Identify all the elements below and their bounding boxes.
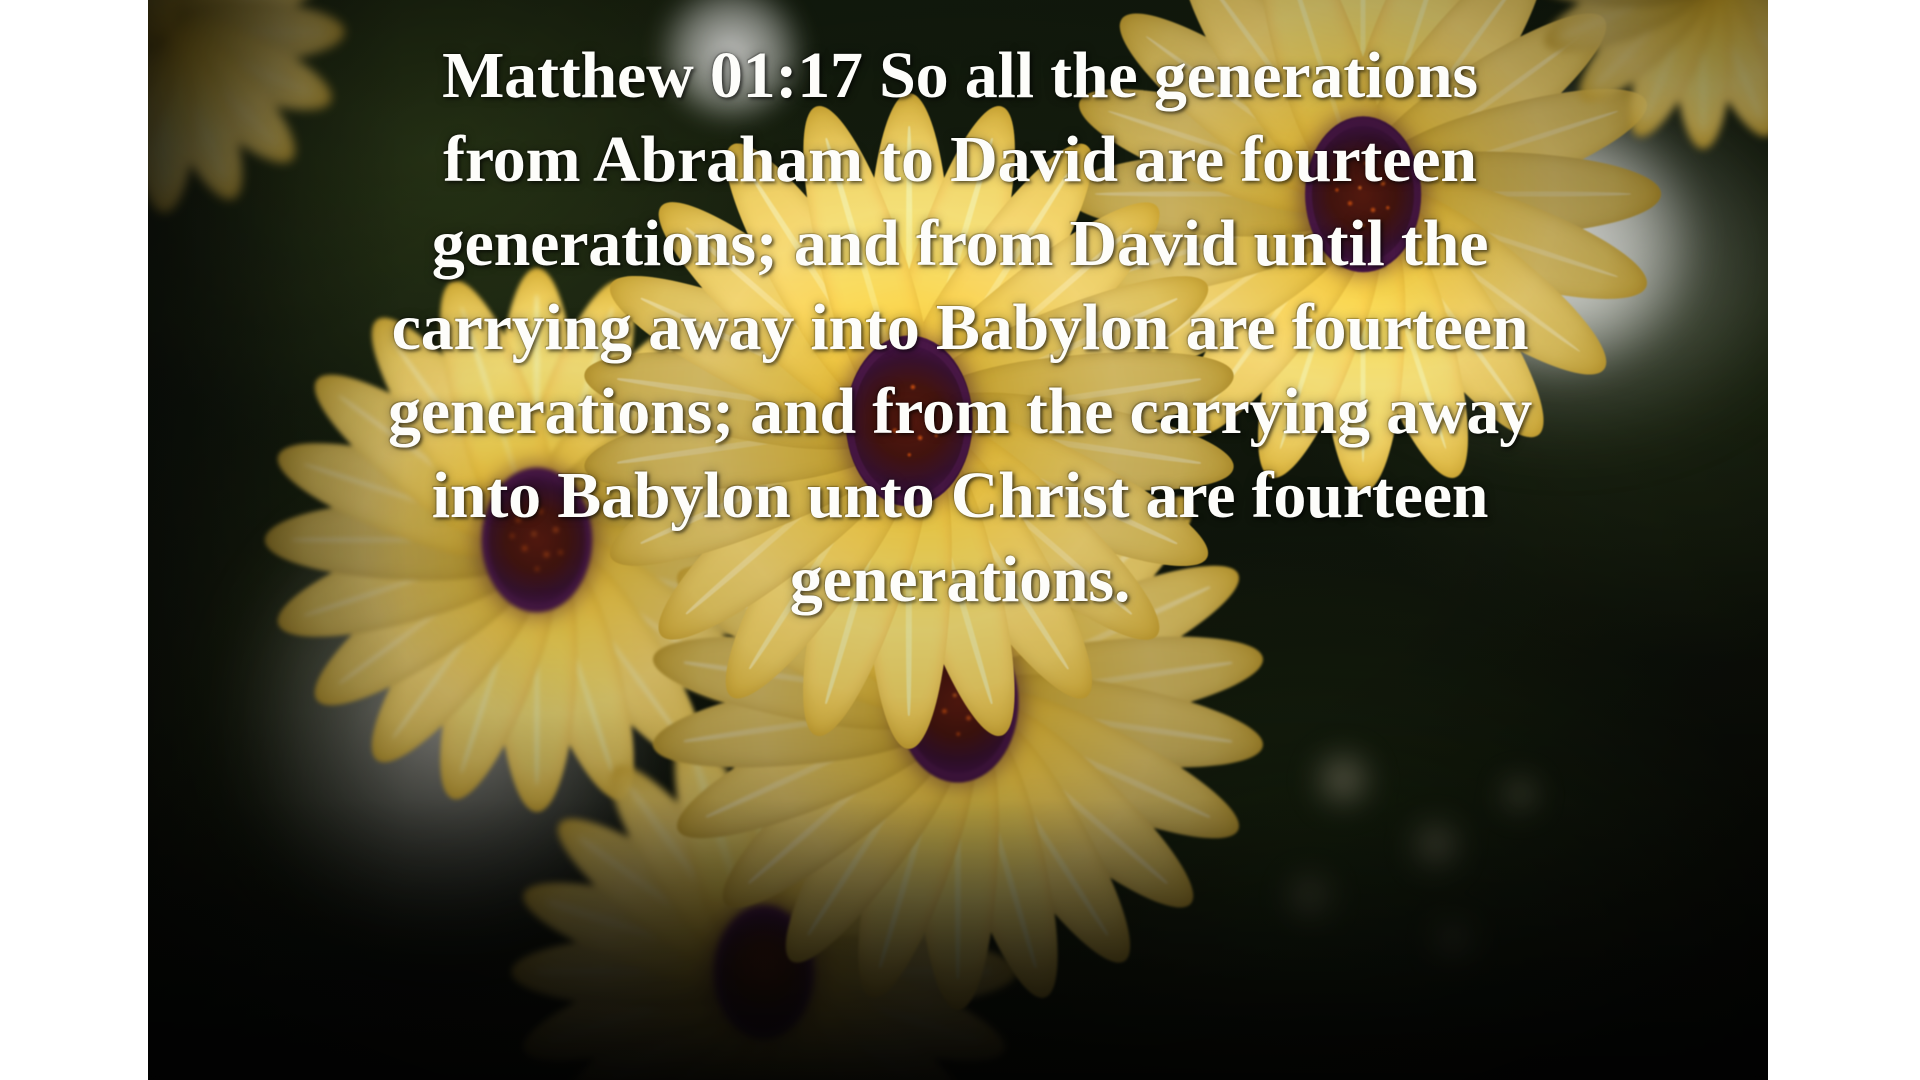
- background-photograph: [148, 0, 1768, 1080]
- verse-slide: Matthew 01:17 So all the generations fro…: [0, 0, 1920, 1080]
- flower-core-ring: [1312, 126, 1414, 262]
- page-margin-right: [1768, 0, 1920, 1080]
- page-margin-left: [0, 0, 148, 1080]
- flower-core-ring: [854, 346, 966, 496]
- daisy-flower-center: [537, 65, 1282, 778]
